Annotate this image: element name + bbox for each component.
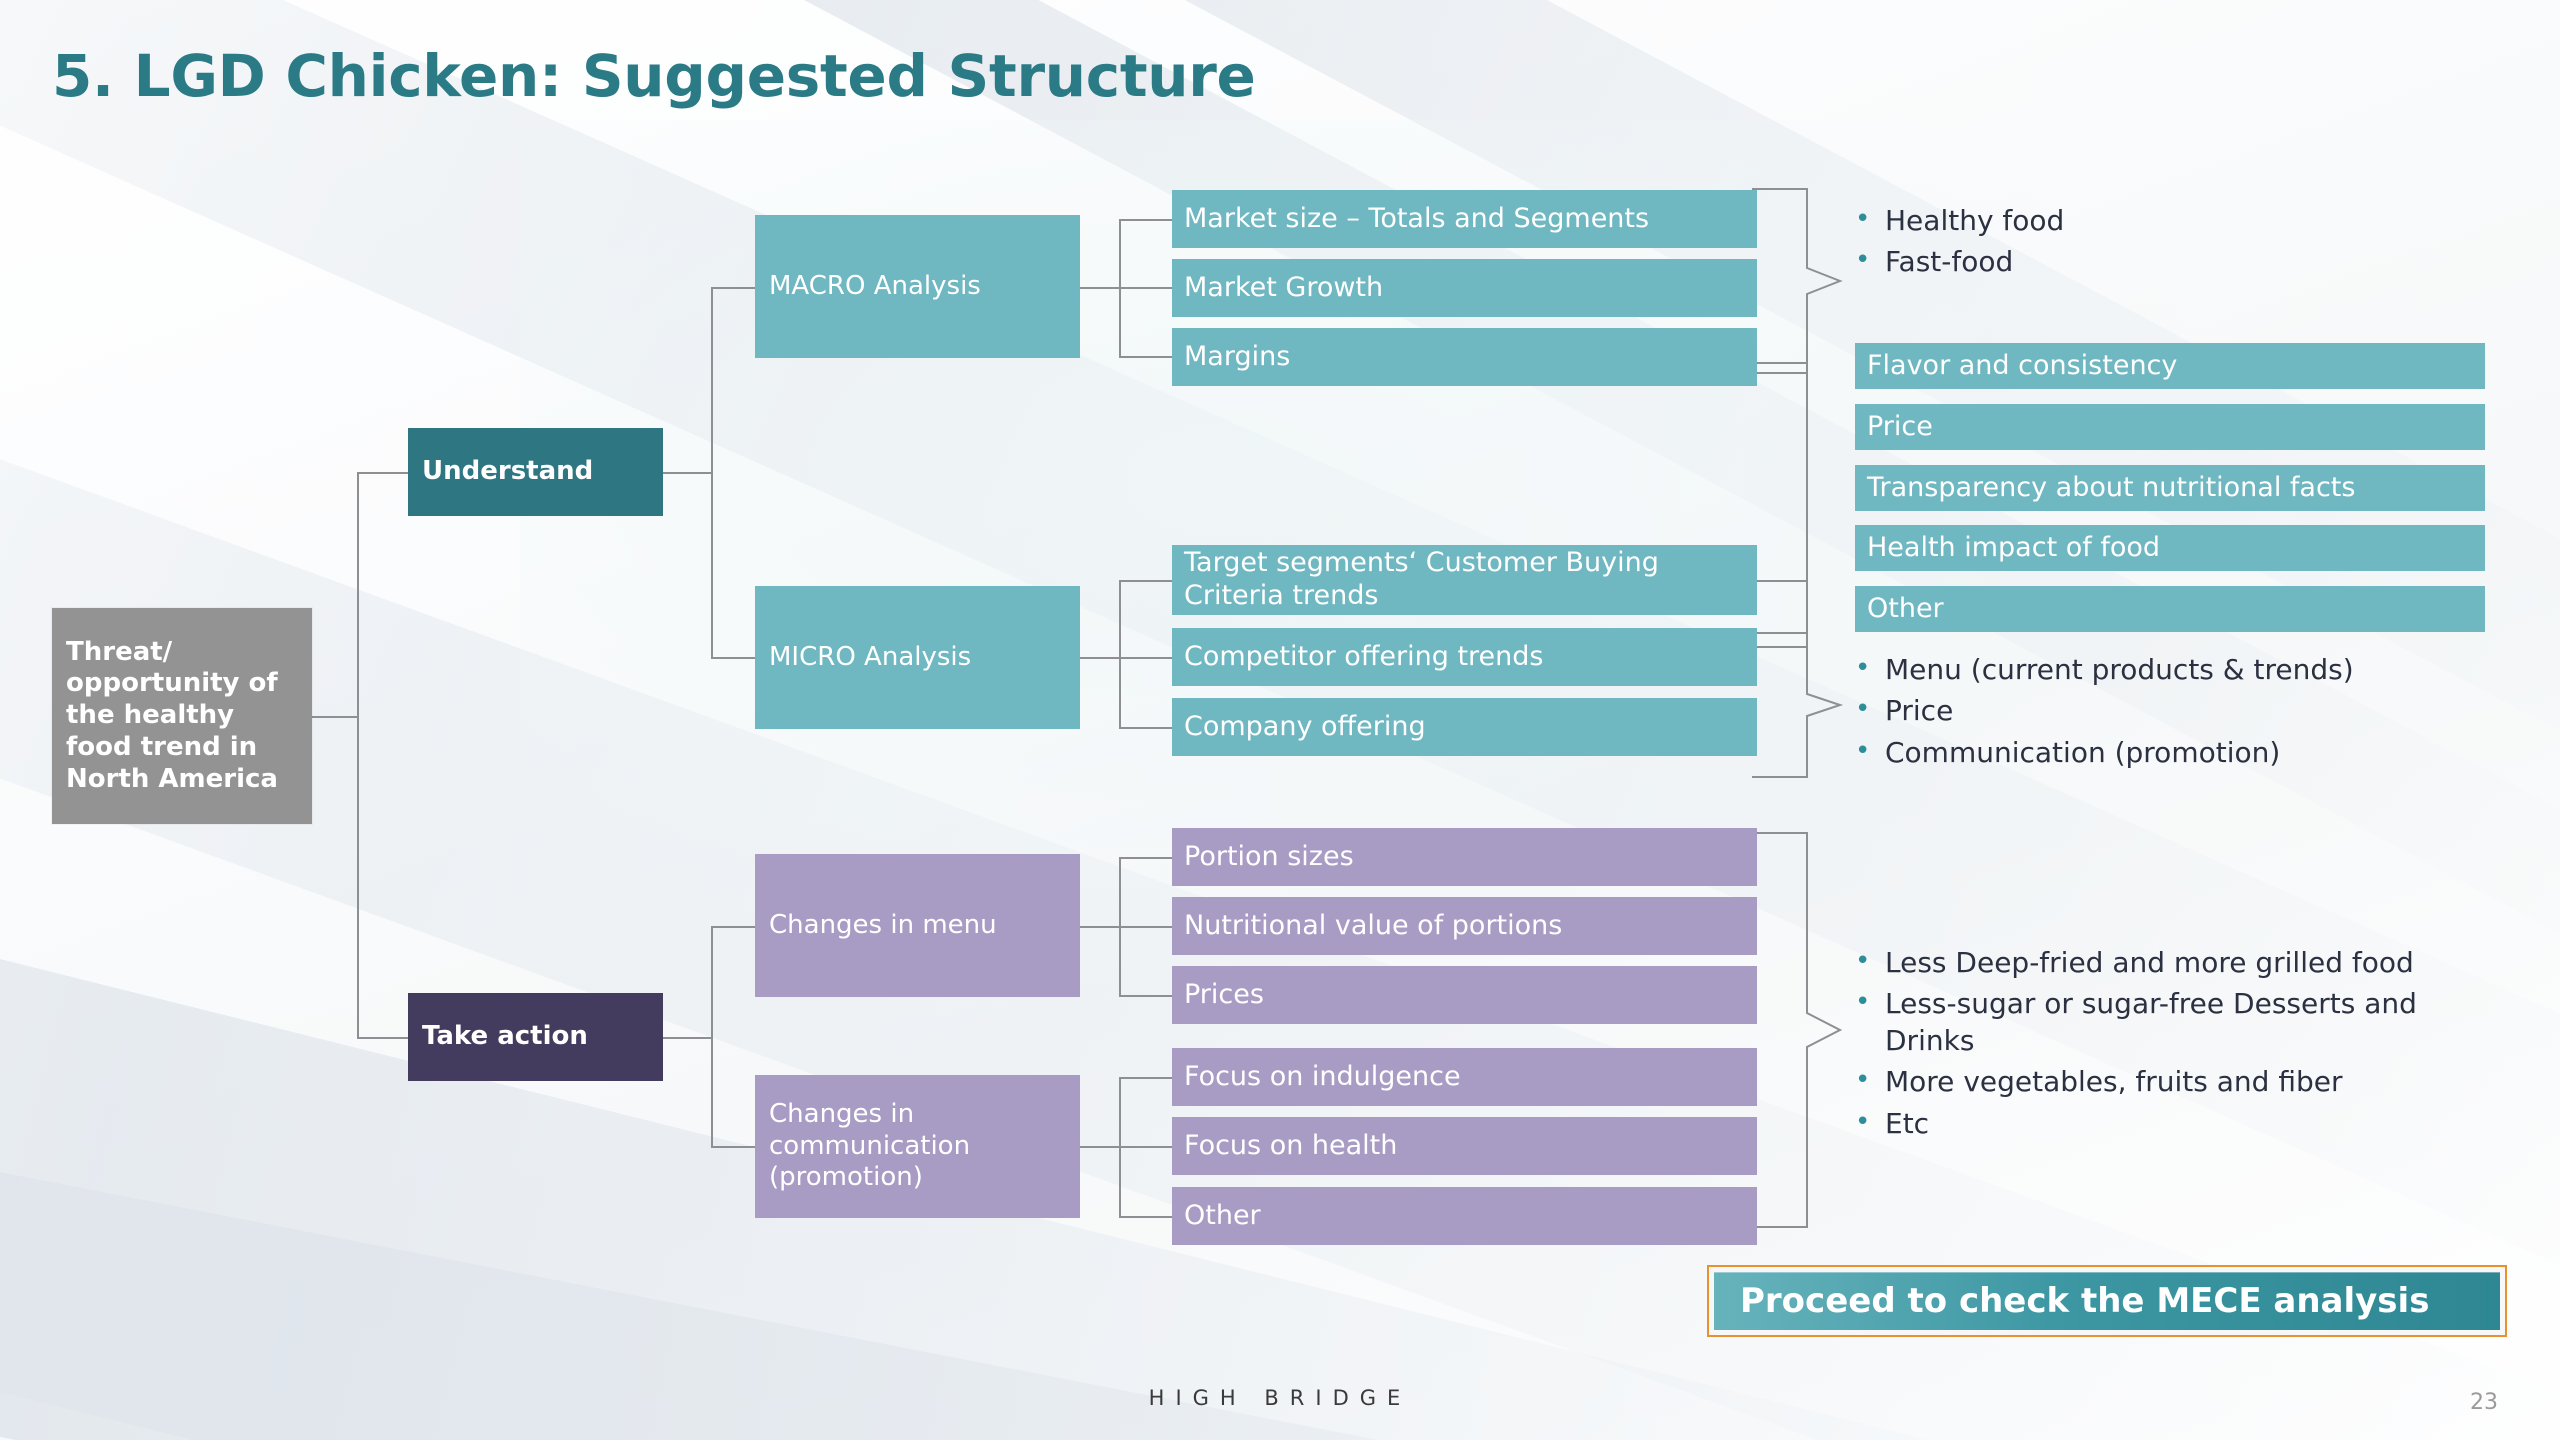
brace-connector-macro <box>1752 186 1862 376</box>
cta-banner-label: Proceed to check the MECE analysis <box>1714 1272 2500 1330</box>
node-cbc-box-label: Health impact of food <box>1867 532 2160 565</box>
node-micro-analysis[interactable]: MICRO Analysis <box>755 586 1080 729</box>
node-macro-child[interactable]: Market Growth <box>1172 259 1757 317</box>
bullet-item: • Healthy food <box>1855 203 2475 239</box>
node-macro-child-label: Market Growth <box>1184 272 1383 305</box>
connector-line <box>711 1146 756 1148</box>
bullet-text: Etc <box>1885 1106 2455 1142</box>
node-menu-child[interactable]: Prices <box>1172 966 1757 1024</box>
bullet-item: • Fast-food <box>1855 244 2475 280</box>
connector-line <box>711 926 713 1146</box>
node-macro-analysis[interactable]: MACRO Analysis <box>755 215 1080 358</box>
page-title: 5. LGD Chicken: Suggested Structure <box>52 42 1256 110</box>
node-cbc-box-label: Price <box>1867 411 1933 444</box>
cta-banner[interactable]: Proceed to check the MECE analysis <box>1707 1265 2507 1337</box>
bullet-item: • Etc <box>1855 1106 2455 1142</box>
node-cbc-box[interactable]: Other <box>1855 586 2485 632</box>
bullet-list-micro-notes: • Menu (current products & trends) • Pri… <box>1855 652 2515 776</box>
node-comm-child[interactable]: Focus on health <box>1172 1117 1757 1175</box>
node-cbc-box-label: Transparency about nutritional facts <box>1867 472 2355 505</box>
bullet-text: Less Deep-fried and more grilled food <box>1885 945 2455 981</box>
node-macro-child[interactable]: Margins <box>1172 328 1757 386</box>
slide-canvas: 5. LGD Chicken: Suggested Structure <box>0 0 2560 1440</box>
connector-line <box>1119 580 1172 582</box>
bullet-text: Healthy food <box>1885 203 2475 239</box>
branch-understand[interactable]: Understand <box>408 428 663 516</box>
bullet-text: Fast-food <box>1885 244 2475 280</box>
bullet-text: Price <box>1885 693 2515 729</box>
bullet-text: Less-sugar or sugar-free Desserts and Dr… <box>1885 986 2455 1059</box>
node-menu-child-label: Portion sizes <box>1184 841 1354 874</box>
brace-connector-action <box>1752 830 1862 1230</box>
connector-line <box>711 926 756 928</box>
connector-line <box>1119 1077 1121 1216</box>
node-changes-in-menu[interactable]: Changes in menu <box>755 854 1080 997</box>
bullet-dot-icon: • <box>1855 693 1885 726</box>
connector-line <box>1119 926 1172 928</box>
node-micro-child[interactable]: Target segments‘ Customer Buying Criteri… <box>1172 545 1757 615</box>
branch-understand-label: Understand <box>422 456 593 488</box>
node-menu-child[interactable]: Portion sizes <box>1172 828 1757 886</box>
node-comm-child-label: Focus on indulgence <box>1184 1061 1461 1094</box>
bullet-item: • Less-sugar or sugar-free Desserts and … <box>1855 986 2455 1059</box>
connector-line <box>357 472 409 474</box>
branch-take-action-label: Take action <box>422 1021 588 1053</box>
bullet-item: • Menu (current products & trends) <box>1855 652 2515 688</box>
node-changes-in-communication-label: Changes in communication (promotion) <box>769 1099 1066 1194</box>
connector-line <box>1752 580 1807 582</box>
node-menu-child-label: Prices <box>1184 979 1264 1012</box>
root-node[interactable]: Threat/ opportunity of the healthy food … <box>52 608 312 824</box>
node-changes-in-communication[interactable]: Changes in communication (promotion) <box>755 1075 1080 1218</box>
node-micro-child[interactable]: Company offering <box>1172 698 1757 756</box>
connector-line <box>1119 657 1172 659</box>
connector-line <box>1119 1077 1172 1079</box>
brace-connector-micro <box>1752 630 1862 780</box>
bullet-list-macro-notes: • Healthy food • Fast-food <box>1855 203 2475 286</box>
bullet-dot-icon: • <box>1855 986 1885 1019</box>
node-comm-child-label: Focus on health <box>1184 1130 1397 1163</box>
node-macro-child[interactable]: Market size – Totals and Segments <box>1172 190 1757 248</box>
node-macro-child-label: Market size – Totals and Segments <box>1184 203 1649 236</box>
bullet-dot-icon: • <box>1855 1106 1885 1139</box>
node-micro-child-label: Company offering <box>1184 711 1426 744</box>
connector-line <box>1119 857 1121 996</box>
bullet-dot-icon: • <box>1855 735 1885 768</box>
connector-line <box>1119 1146 1172 1148</box>
node-menu-child-label: Nutritional value of portions <box>1184 910 1562 943</box>
connector-line <box>1119 287 1172 289</box>
connector-line <box>662 472 712 474</box>
connector-line <box>1119 580 1121 727</box>
node-comm-child-label: Other <box>1184 1200 1261 1233</box>
node-micro-child-label: Target segments‘ Customer Buying Criteri… <box>1184 547 1745 613</box>
connector-line <box>1119 1216 1172 1218</box>
node-menu-child[interactable]: Nutritional value of portions <box>1172 897 1757 955</box>
bullet-item: • Less Deep-fried and more grilled food <box>1855 945 2455 981</box>
node-cbc-box-label: Flavor and consistency <box>1867 350 2177 383</box>
connector-line <box>1078 1146 1120 1148</box>
node-cbc-box[interactable]: Transparency about nutritional facts <box>1855 465 2485 511</box>
bullet-item: • More vegetables, fruits and fiber <box>1855 1064 2455 1100</box>
root-node-label: Threat/ opportunity of the healthy food … <box>66 637 298 796</box>
bullet-dot-icon: • <box>1855 1064 1885 1097</box>
node-changes-in-menu-label: Changes in menu <box>769 910 997 942</box>
connector-line <box>1119 995 1172 997</box>
connector-line <box>1119 219 1121 356</box>
connector-line <box>711 287 756 289</box>
node-comm-child[interactable]: Other <box>1172 1187 1757 1245</box>
connector-line <box>1119 356 1172 358</box>
connector-line <box>357 472 359 1038</box>
connector-line <box>1078 657 1120 659</box>
connector-line <box>662 1037 712 1039</box>
node-micro-child-label: Competitor offering trends <box>1184 641 1544 674</box>
bullet-item: • Price <box>1855 693 2515 729</box>
node-cbc-box[interactable]: Price <box>1855 404 2485 450</box>
node-micro-child[interactable]: Competitor offering trends <box>1172 628 1757 686</box>
bullet-item: • Communication (promotion) <box>1855 735 2515 771</box>
footer-brand: HIGH BRIDGE <box>0 1386 2560 1410</box>
connector-line <box>711 287 713 659</box>
branch-take-action[interactable]: Take action <box>408 993 663 1081</box>
node-cbc-box-label: Other <box>1867 593 1944 626</box>
node-comm-child[interactable]: Focus on indulgence <box>1172 1048 1757 1106</box>
node-macro-child-label: Margins <box>1184 341 1290 374</box>
connector-line <box>357 1037 409 1039</box>
connector-line <box>310 716 358 718</box>
bullet-text: More vegetables, fruits and fiber <box>1885 1064 2455 1100</box>
connector-line <box>1078 926 1120 928</box>
brace-connector-cbc <box>1752 360 1862 650</box>
connector-line <box>1078 287 1120 289</box>
bullet-text: Menu (current products & trends) <box>1885 652 2515 688</box>
connector-line <box>1119 219 1172 221</box>
bullet-text: Communication (promotion) <box>1885 735 2515 771</box>
connector-line <box>711 657 756 659</box>
bullet-dot-icon: • <box>1855 652 1885 685</box>
node-cbc-box[interactable]: Health impact of food <box>1855 525 2485 571</box>
connector-line <box>1119 857 1172 859</box>
bullet-dot-icon: • <box>1855 244 1885 277</box>
page-number: 23 <box>2470 1390 2498 1415</box>
bullet-dot-icon: • <box>1855 945 1885 978</box>
connector-line <box>1119 727 1172 729</box>
node-cbc-box[interactable]: Flavor and consistency <box>1855 343 2485 389</box>
node-macro-analysis-label: MACRO Analysis <box>769 271 981 303</box>
bullet-list-action-notes: • Less Deep-fried and more grilled food … <box>1855 945 2455 1147</box>
node-micro-analysis-label: MICRO Analysis <box>769 642 971 674</box>
bullet-dot-icon: • <box>1855 203 1885 236</box>
